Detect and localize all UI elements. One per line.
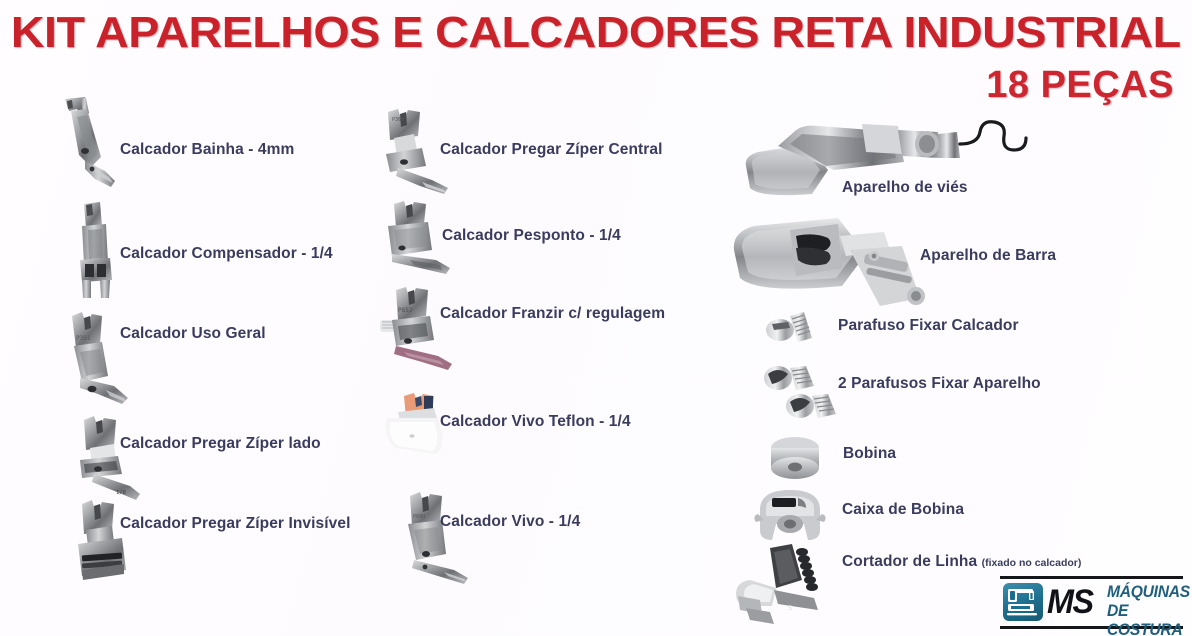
list-item-label: Calcador Uso Geral: [120, 324, 266, 343]
screw-single-icon: [760, 302, 830, 367]
sewing-machine-icon: [1003, 583, 1043, 621]
list-item-label: Calcador Pregar Zíper Invisível: [120, 514, 351, 533]
svg-text:S: S: [788, 604, 792, 612]
svg-text:P852: P852: [398, 307, 413, 314]
svg-text:P60H: P60H: [413, 514, 425, 520]
logo-line-1: MÁQUINAS: [1107, 582, 1190, 601]
list-item-label: Calcador Pregar Zíper Central: [440, 140, 663, 159]
presser-foot-hemmer-icon: [55, 95, 127, 205]
presser-foot-piping-icon: P60H: [398, 490, 478, 600]
list-item-label: Calcador Vivo Teflon - 1/4: [440, 412, 631, 431]
list-item-label: Calcador Pregar Zíper lado: [120, 434, 321, 453]
bias-binder-icon: [742, 118, 1042, 213]
list-item-label: Bobina: [843, 444, 896, 463]
list-item-label: 2 Parafusos Fixar Aparelho: [838, 374, 1041, 393]
page-title: KIT APARELHOS E CALCADORES RETA INDUSTRI…: [11, 8, 1181, 58]
logo-rule-top: [1000, 576, 1183, 579]
title-bar: KIT APARELHOS E CALCADORES RETA INDUSTRI…: [0, 8, 1192, 58]
logo-line-2: DE COSTURA: [1107, 601, 1190, 636]
list-item-label: Calcador Bainha - 4mm: [120, 140, 294, 159]
list-item-label: Aparelho de viés: [842, 178, 968, 197]
list-item-label: Caixa de Bobina: [842, 500, 964, 519]
list-item-label: Calcador Vivo - 1/4: [440, 512, 580, 531]
list-item-label: Calcador Compensador - 1/4: [120, 244, 333, 263]
logo-initials: MS: [1047, 581, 1093, 623]
thread-cutter-icon: S: [730, 540, 840, 635]
screw-pair-icon: [760, 360, 844, 435]
list-item-label: Parafuso Fixar Calcador: [838, 316, 1019, 335]
list-item-label-main: Cortador de Linha: [842, 553, 977, 570]
list-item-label: Calcador Franzir c/ regulagem: [440, 304, 665, 323]
presser-foot-gathering-icon: P852: [378, 286, 463, 387]
brand-logo[interactable]: MS MÁQUINAS DE COSTURA: [995, 575, 1187, 630]
svg-text:P351: P351: [76, 335, 91, 342]
list-item-label: Aparelho de Barra: [920, 246, 1056, 265]
list-item-label-note: (fixado no calcador): [982, 557, 1082, 569]
svg-text:1/8: 1/8: [116, 490, 126, 496]
presser-foot-topstitch-icon: [380, 200, 458, 295]
bobbin-icon: [765, 430, 831, 491]
list-item-label: Cortador de Linha (fixado no calcador): [842, 552, 1081, 573]
list-item-label: Calcador Pesponto - 1/4: [442, 226, 621, 245]
subtitle-wrap: 18 PEÇAS: [986, 63, 1174, 107]
logo-wordmark: MÁQUINAS DE COSTURA: [1107, 582, 1192, 636]
svg-text:P36N: P36N: [392, 117, 404, 123]
piece-count-badge: 18 PEÇAS: [986, 64, 1174, 106]
product-infographic: KIT APARELHOS E CALCADORES RETA INDUSTRI…: [0, 0, 1192, 636]
